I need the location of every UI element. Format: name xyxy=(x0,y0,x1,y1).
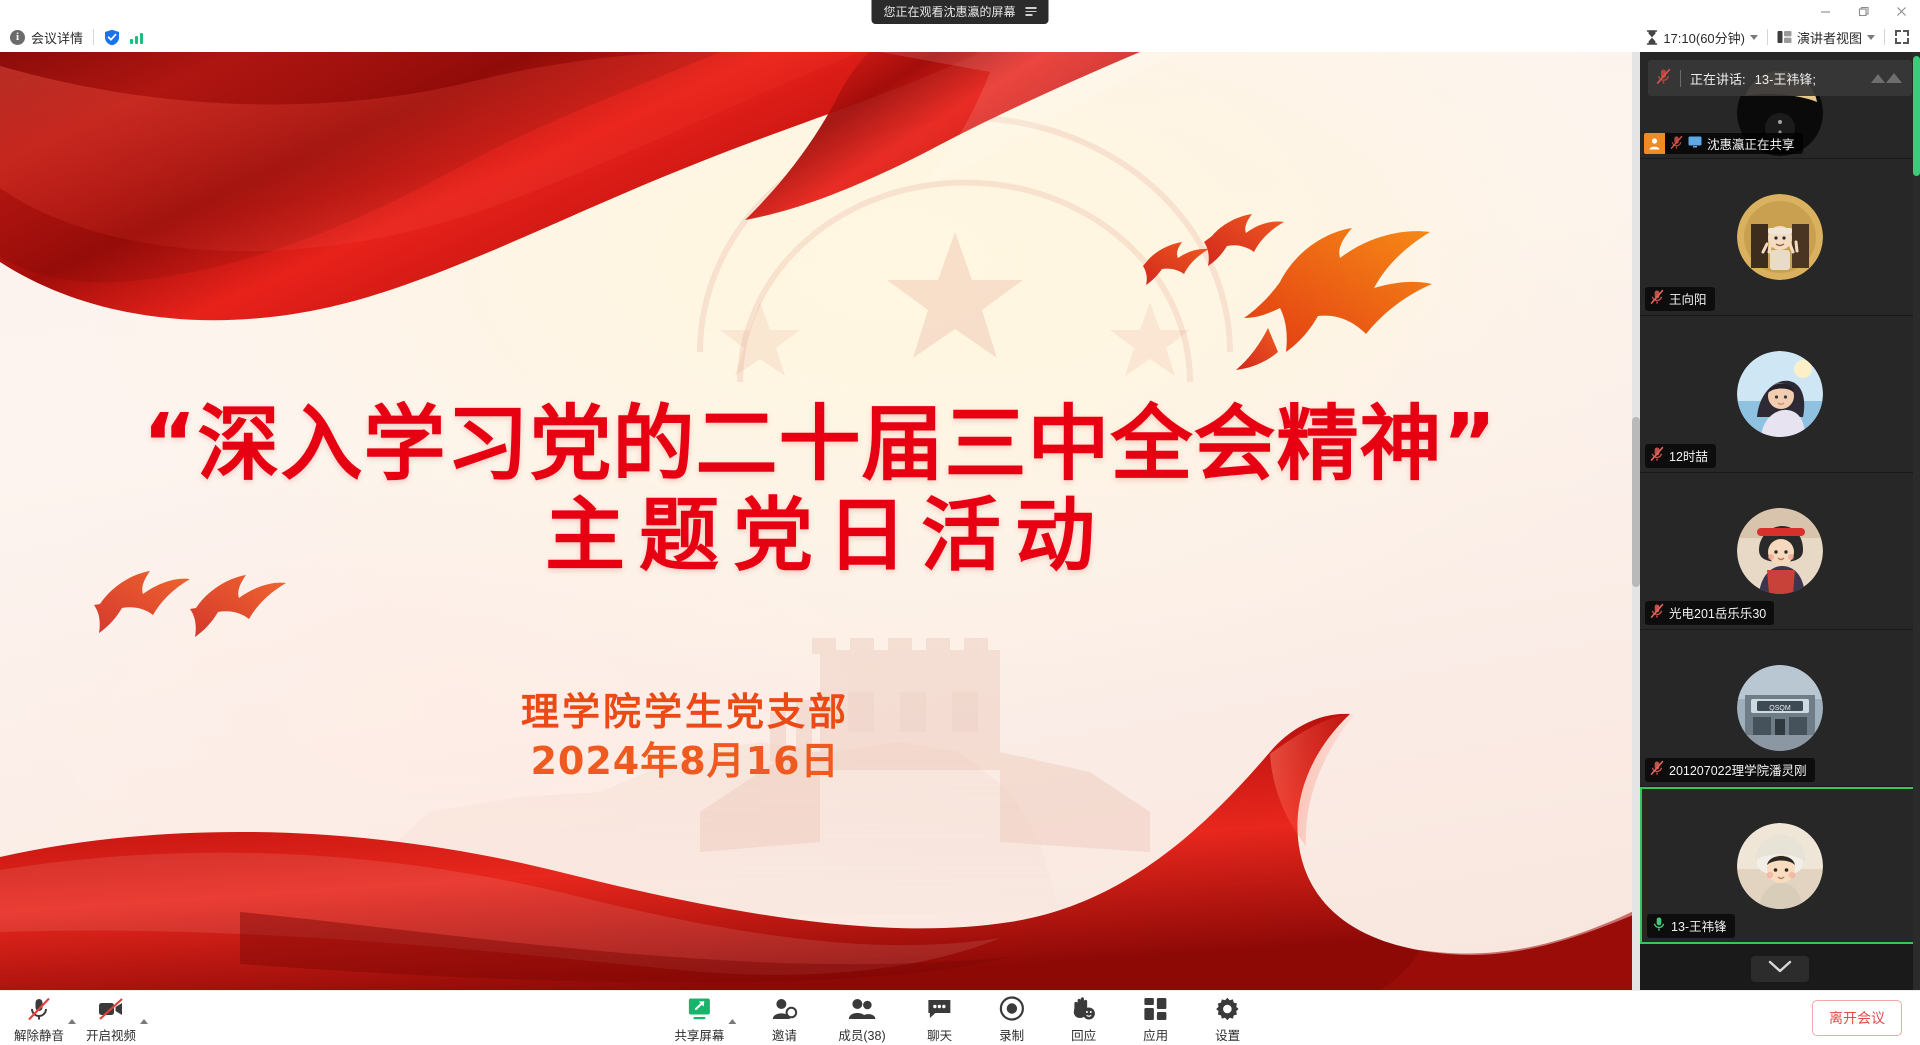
participant-tile[interactable]: 王向阳 xyxy=(1640,159,1920,316)
unmute-button[interactable]: 解除静音 xyxy=(8,993,70,1044)
slide-credits-block: 理学院学生党支部 2024年8月16日 xyxy=(0,688,1640,785)
participants-label: 成员(38) xyxy=(838,1025,885,1044)
chevron-down-icon[interactable] xyxy=(1750,35,1758,40)
participant-panel-scrollbar[interactable] xyxy=(1913,52,1920,990)
participant-name: 13-王祎锋 xyxy=(1671,916,1727,935)
apps-button[interactable]: 应用 xyxy=(1132,993,1180,1044)
slide-date: 2024年8月16日 xyxy=(0,737,1370,786)
meeting-toolbar: 解除静音 开启视频 xyxy=(0,990,1920,1045)
participant-tile-active[interactable]: 13-王祎锋 xyxy=(1640,787,1920,944)
share-options-chevron-up-icon[interactable] xyxy=(728,1019,736,1024)
participant-panel-scroll-thumb[interactable] xyxy=(1913,56,1920,176)
audio-wave-icon xyxy=(1870,70,1904,86)
mic-muted-icon xyxy=(1650,603,1664,622)
start-video-button[interactable]: 开启视频 xyxy=(80,993,142,1044)
network-signal-icon[interactable] xyxy=(130,31,143,44)
meeting-timer-label: 17:10(60分钟) xyxy=(1663,28,1745,47)
settings-button[interactable]: 设置 xyxy=(1204,993,1252,1044)
chevron-down-icon-2[interactable] xyxy=(1867,35,1875,40)
restore-button[interactable] xyxy=(1844,0,1882,22)
invite-label: 邀请 xyxy=(772,1025,797,1044)
chat-label: 聊天 xyxy=(927,1025,952,1044)
chevron-down-icon xyxy=(1768,960,1792,978)
slide-title-block: “深入学习党的二十届三中全会精神” 主题党日活动 xyxy=(0,402,1640,583)
avatar xyxy=(1737,823,1823,909)
chat-button[interactable]: 聊天 xyxy=(916,993,964,1044)
video-control-group: 开启视频 xyxy=(80,993,148,1044)
participant-name: 光电201岳乐乐30 xyxy=(1669,603,1766,622)
participant-tile[interactable]: 12时喆 xyxy=(1640,316,1920,473)
shared-screen-stage[interactable]: “深入学习党的二十届三中全会精神” 主题党日活动 理学院学生党支部 2024年8… xyxy=(0,52,1640,990)
participant-name-chip: 13-王祎锋 xyxy=(1647,914,1735,938)
meeting-topbar: i 会议详情 17:10(60分钟) xyxy=(0,22,1920,52)
unmute-label: 解除静音 xyxy=(14,1025,64,1044)
topbar-divider xyxy=(93,29,94,45)
topbar-divider-2 xyxy=(1767,29,1768,45)
viewing-share-banner: 您正在观看沈惠瀛的屏幕 xyxy=(871,0,1048,24)
invite-person-icon xyxy=(771,996,797,1022)
speaker-bar-divider xyxy=(1680,70,1681,87)
sharing-indicator: 沈惠瀛正在共享 xyxy=(1644,133,1803,154)
active-speaker-bar: 正在讲话: 13-王祎锋; xyxy=(1648,60,1912,96)
mic-muted-icon xyxy=(1650,760,1664,779)
video-off-icon xyxy=(97,996,125,1022)
sharing-label: 沈惠瀛正在共享 xyxy=(1707,134,1795,153)
participant-tile[interactable]: 光电201岳乐乐30 xyxy=(1640,473,1920,630)
participant-name-chip: 201207022理学院潘灵刚 xyxy=(1645,758,1815,782)
share-banner-text: 您正在观看沈惠瀛的屏幕 xyxy=(883,3,1015,20)
topbar-left-group: i 会议详情 xyxy=(10,28,143,47)
shared-view-scroll-thumb[interactable] xyxy=(1632,417,1640,587)
zoom-meeting-window: 您正在观看沈惠瀛的屏幕 i 会议详情 xyxy=(0,0,1920,1045)
slide-title-line-1: “深入学习党的二十届三中全会精神” xyxy=(0,402,1640,489)
start-video-label: 开启视频 xyxy=(86,1025,136,1044)
apps-grid-icon xyxy=(1144,996,1168,1022)
hamburger-menu-icon[interactable] xyxy=(1026,7,1037,16)
avatar xyxy=(1737,508,1823,594)
panel-scroll-down-button[interactable] xyxy=(1751,956,1809,982)
window-controls xyxy=(1806,0,1920,22)
participant-name-chip: 王向阳 xyxy=(1645,287,1715,311)
screen-share-icon xyxy=(1688,136,1702,151)
view-mode-selector[interactable]: 演讲者视图 xyxy=(1777,28,1875,47)
participants-icon xyxy=(848,996,876,1022)
participant-panel: 正在讲话: 13-王祎锋; xyxy=(1640,52,1920,990)
shared-view-scrollbar[interactable] xyxy=(1632,52,1640,990)
view-mode-label: 演讲者视图 xyxy=(1797,28,1862,47)
presentation-slide: “深入学习党的二十届三中全会精神” 主题党日活动 理学院学生党支部 2024年8… xyxy=(0,52,1640,990)
invite-button[interactable]: 邀请 xyxy=(760,993,808,1044)
record-button[interactable]: 录制 xyxy=(988,993,1036,1044)
video-options-chevron-up-icon[interactable] xyxy=(140,1019,148,1024)
sharing-avatar xyxy=(1644,133,1665,154)
avatar xyxy=(1737,351,1823,437)
participant-name: 201207022理学院潘灵刚 xyxy=(1669,760,1807,779)
mic-unmuted-icon xyxy=(1652,916,1666,935)
participant-tile[interactable]: QSQM 201207022 xyxy=(1640,630,1920,787)
participant-name: 王向阳 xyxy=(1669,289,1707,308)
hourglass-icon xyxy=(1646,30,1658,45)
close-button[interactable] xyxy=(1882,0,1920,22)
reaction-button[interactable]: 回应 xyxy=(1060,993,1108,1044)
layout-view-icon xyxy=(1777,30,1792,44)
record-label: 录制 xyxy=(999,1025,1024,1044)
meeting-details-button[interactable]: i 会议详情 xyxy=(10,28,83,47)
mic-muted-icon xyxy=(1650,289,1664,308)
avatar xyxy=(1737,194,1823,280)
reaction-label: 回应 xyxy=(1071,1025,1096,1044)
speaking-prefix-label: 正在讲话: xyxy=(1690,69,1746,88)
mic-muted-icon xyxy=(1656,68,1671,88)
gear-icon xyxy=(1216,996,1240,1022)
participant-name-chip: 12时喆 xyxy=(1645,444,1716,468)
share-screen-button[interactable]: 共享屏幕 xyxy=(668,993,730,1044)
participant-tile[interactable]: 正在讲话: 13-王祎锋; xyxy=(1640,52,1920,159)
audio-options-chevron-up-icon[interactable] xyxy=(68,1019,76,1024)
raise-hand-icon xyxy=(1071,996,1097,1022)
meeting-timer[interactable]: 17:10(60分钟) xyxy=(1646,28,1758,47)
mic-muted-icon-share xyxy=(1670,135,1683,153)
apps-label: 应用 xyxy=(1143,1025,1168,1044)
toolbar-center-group: 共享屏幕 邀请 xyxy=(668,993,1251,1044)
security-shield-icon[interactable] xyxy=(104,29,120,46)
share-control-group: 共享屏幕 xyxy=(668,993,736,1044)
settings-label: 设置 xyxy=(1215,1025,1240,1044)
slide-title-line-2: 主题党日活动 xyxy=(0,489,1640,583)
participants-button[interactable]: 成员(38) xyxy=(832,993,891,1044)
participant-name-chip: 光电201岳乐乐30 xyxy=(1645,601,1774,625)
svg-text:QSQM: QSQM xyxy=(1769,705,1791,712)
mic-muted-icon xyxy=(26,996,52,1022)
chat-bubble-icon xyxy=(927,996,953,1022)
toolbar-left-group: 解除静音 开启视频 xyxy=(8,993,148,1044)
audio-control-group: 解除静音 xyxy=(8,993,76,1044)
speaking-name-label: 13-王祎锋; xyxy=(1755,69,1816,88)
toolbar-right-group: 离开会议 xyxy=(1812,1000,1902,1036)
leave-meeting-button[interactable]: 离开会议 xyxy=(1812,1000,1902,1036)
share-screen-label: 共享屏幕 xyxy=(674,1025,724,1044)
topbar-divider-3 xyxy=(1884,29,1885,45)
record-circle-icon xyxy=(999,996,1024,1022)
topbar-right-group: 17:10(60分钟) 演讲者视图 xyxy=(1646,28,1910,47)
participant-name: 12时喆 xyxy=(1669,446,1708,465)
avatar: QSQM xyxy=(1737,665,1823,751)
meeting-details-label: 会议详情 xyxy=(31,28,83,47)
info-icon: i xyxy=(10,30,25,45)
minimize-button[interactable] xyxy=(1806,0,1844,22)
fullscreen-icon[interactable] xyxy=(1894,29,1910,45)
share-screen-icon xyxy=(685,996,713,1022)
slide-organization: 理学院学生党支部 xyxy=(0,688,1370,737)
mic-muted-icon xyxy=(1650,446,1664,465)
